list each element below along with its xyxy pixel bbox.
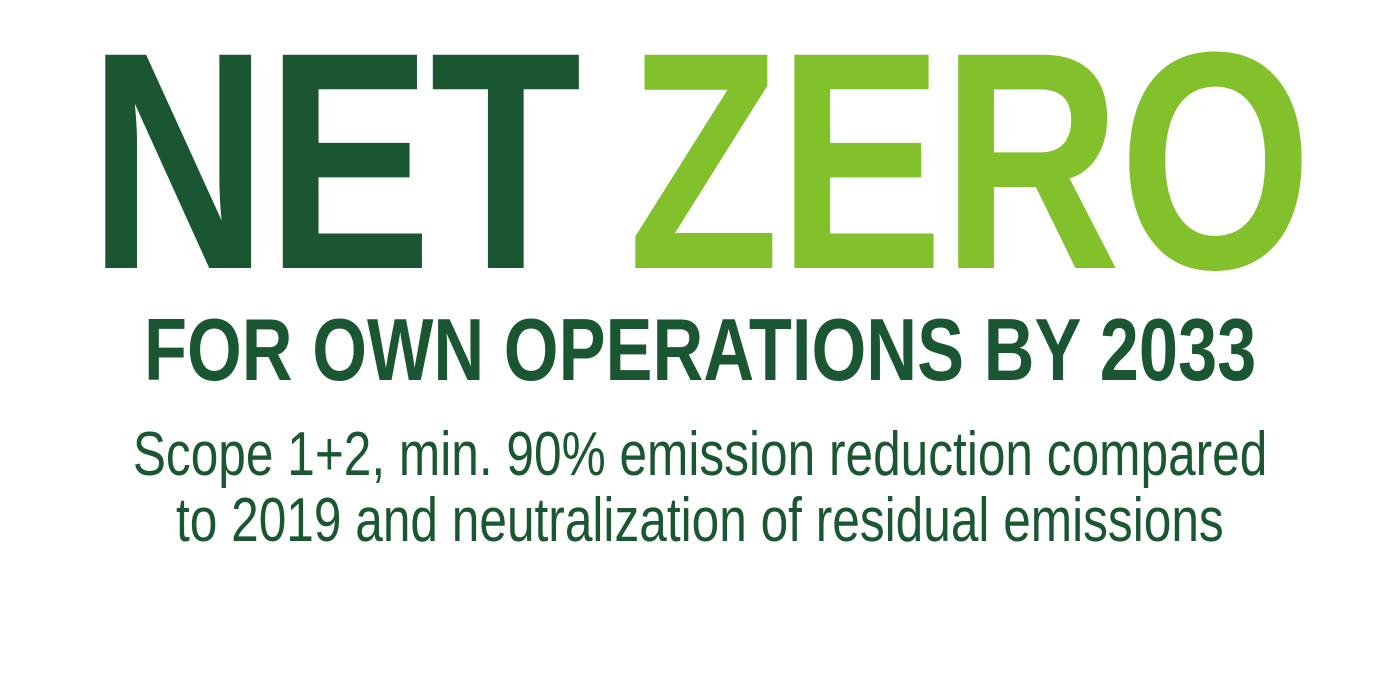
headline-word-zero: ZERO [628, 6, 1311, 316]
headline: NETZERO [0, 36, 1400, 286]
body-copy: Scope 1+2, min. 90% emission reduction c… [0, 422, 1400, 554]
body-line-text: Scope 1+2, min. 90% emission reduction c… [133, 422, 1268, 487]
body-line: Scope 1+2, min. 90% emission reduction c… [0, 422, 1400, 488]
headline-word-net: NET [89, 6, 580, 316]
body-line-text: to 2019 and neutralization of residual e… [176, 488, 1224, 553]
net-zero-poster: NETZERO FOR OWN OPERATIONS BY 2033 Scope… [0, 0, 1400, 700]
subheadline-text: FOR OWN OPERATIONS BY 2033 [144, 306, 1256, 394]
headline-inner: NETZERO [89, 6, 1311, 316]
body-line: to 2019 and neutralization of residual e… [45, 488, 1355, 554]
subheadline: FOR OWN OPERATIONS BY 2033 [5, 304, 1395, 396]
